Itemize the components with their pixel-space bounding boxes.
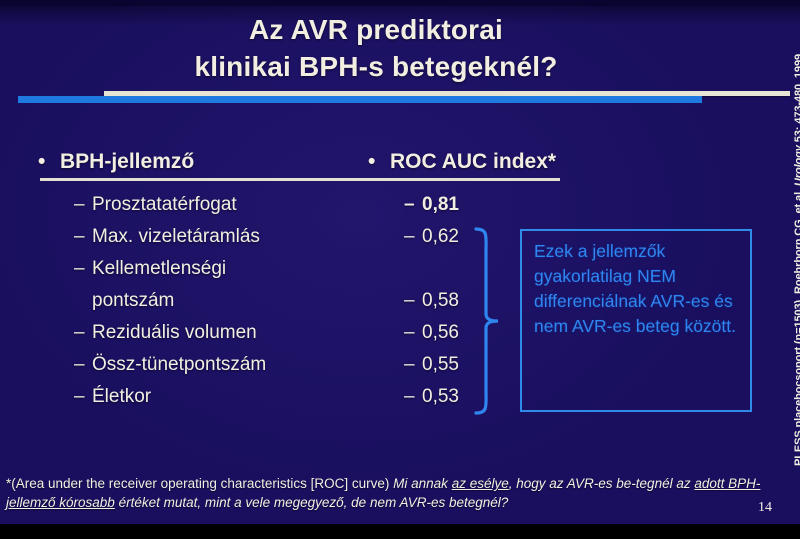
footnote-italic-2: , hogy az AVR-es be-tegnél (509, 476, 677, 491)
dash-marker: – (404, 350, 422, 380)
dash-marker: – (404, 190, 422, 220)
row-label: –Kellemetlenségi (74, 254, 226, 284)
dash-marker: – (404, 286, 422, 316)
row-value: –0,55 (404, 350, 459, 380)
header-underline-divider (40, 178, 560, 181)
title-divider-blue (18, 96, 702, 103)
column-header-left-label: BPH-jellemző (60, 150, 194, 173)
row-label-text: pontszám (92, 290, 174, 311)
row-value-text: 0,62 (422, 226, 459, 247)
dash-marker: – (404, 382, 422, 412)
dash-marker: – (74, 350, 92, 380)
dash-marker: – (404, 222, 422, 252)
column-header-right-label: ROC AUC index* (390, 150, 556, 173)
citation-prefix: PLESS placebocsoport (n=1503). Roehrborn… (793, 186, 800, 466)
column-header-bph-jellemzo: •BPH-jellemző (38, 150, 194, 174)
row-value: –0,62 (404, 222, 459, 252)
row-value-text: 0,55 (422, 354, 459, 375)
row-value: –0,56 (404, 318, 459, 348)
title-line-2: klinikai BPH-s betegeknél? (0, 49, 752, 86)
row-label-text: Életkor (92, 386, 151, 407)
source-citation-text: PLESS placebocsoport (n=1503). Roehrborn… (793, 54, 800, 466)
footnote-underline-1: az esélye (452, 476, 509, 491)
citation-suffix: 53: 473-480, 1999 (793, 54, 800, 145)
row-label-text: Reziduális volumen (92, 322, 257, 343)
dash-marker: – (74, 222, 92, 252)
row-value-text: 0,81 (422, 194, 459, 215)
presentation-slide: Az AVR prediktorai klinikai BPH-s betege… (0, 0, 800, 539)
footnote-italic-3: az (676, 476, 694, 491)
right-curly-brace-icon (472, 226, 506, 416)
dash-marker: – (74, 382, 92, 412)
row-label: –Össz-tünetpontszám (74, 350, 266, 380)
title-line-1: Az AVR prediktorai (249, 14, 503, 45)
citation-journal: Urology (793, 145, 800, 186)
page-number: 14 (758, 500, 772, 516)
row-label: –Max. vizeletáramlás (74, 222, 260, 252)
row-value-text: 0,56 (422, 322, 459, 343)
top-letterbox-band (0, 0, 800, 6)
dash-marker: – (404, 318, 422, 348)
source-citation: PLESS placebocsoport (n=1503). Roehrborn… (776, 0, 798, 470)
row-label-continuation: pontszám (92, 286, 174, 316)
row-value-text: 0,53 (422, 386, 459, 407)
dash-marker: – (74, 318, 92, 348)
callout-text: Ezek a jellemzők gyakorlatilag NEM diffe… (534, 239, 744, 339)
table-row: –Prosztatatérfogat –0,81 (0, 190, 800, 222)
row-label-text: Prosztatatérfogat (92, 194, 237, 215)
dash-marker: – (74, 190, 92, 220)
footnote-italic-4: értéket mutat, mint a vele megegyező, de… (115, 495, 508, 510)
row-label: –Reziduális volumen (74, 318, 257, 348)
bullet-icon: • (368, 150, 390, 174)
column-header-roc-auc-index: •ROC AUC index* (368, 150, 556, 174)
row-label: –Életkor (74, 382, 151, 412)
row-value: –0,81 (404, 190, 459, 220)
slide-title: Az AVR prediktorai klinikai BPH-s betege… (0, 12, 752, 86)
row-label-text: Max. vizeletáramlás (92, 226, 260, 247)
row-value-text: 0,58 (422, 290, 459, 311)
callout-box: Ezek a jellemzők gyakorlatilag NEM diffe… (520, 229, 752, 412)
bullet-icon: • (38, 150, 60, 174)
row-label-text: Kellemetlenségi (92, 258, 226, 279)
footnote: *(Area under the receiver operating char… (6, 474, 786, 512)
row-label-text: Össz-tünetpontszám (92, 354, 266, 375)
footnote-definition: *(Area under the receiver operating char… (6, 476, 393, 491)
dash-marker: – (74, 254, 92, 284)
footnote-italic-1: Mi annak (393, 476, 452, 491)
row-value: –0,53 (404, 382, 459, 412)
row-value: –0,58 (404, 286, 459, 316)
bottom-letterbox-band (0, 524, 800, 539)
row-label: –Prosztatatérfogat (74, 190, 237, 220)
